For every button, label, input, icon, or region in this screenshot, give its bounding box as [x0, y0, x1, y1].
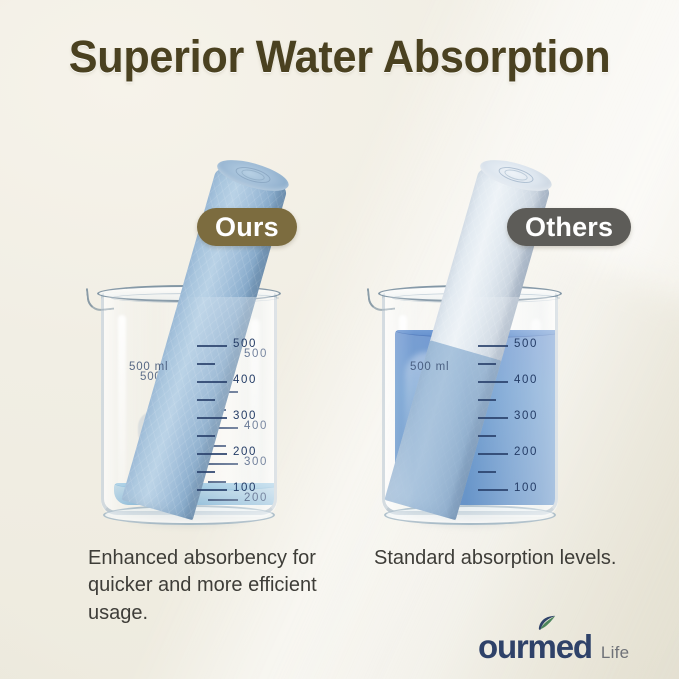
- brand-wordmark: ourmed: [478, 628, 592, 666]
- caption-ours: Enhanced absorbency for quicker and more…: [88, 545, 338, 627]
- beaker-base-right: [384, 505, 556, 525]
- brand-name: ourmed: [478, 628, 592, 665]
- badge-ours-label: Ours: [215, 212, 279, 243]
- tick-label-200: 200: [244, 492, 268, 504]
- caption-others: Standard absorption levels.: [374, 545, 624, 572]
- badge-ours[interactable]: Ours: [197, 208, 297, 246]
- tick-label-300: 300: [244, 456, 268, 468]
- leaf-icon: [536, 615, 558, 635]
- tick-label-500: 500: [244, 348, 268, 360]
- promo-graphic: Superior Water Absorption 500 400: [0, 0, 679, 679]
- brand-logo[interactable]: ourmed Life: [478, 628, 629, 666]
- page-title: Superior Water Absorption: [14, 31, 666, 83]
- brand-suffix: Life: [601, 643, 630, 663]
- badge-others-label: Others: [525, 212, 613, 243]
- tick-label-400: 400: [244, 420, 268, 432]
- badge-others[interactable]: Others: [507, 208, 631, 246]
